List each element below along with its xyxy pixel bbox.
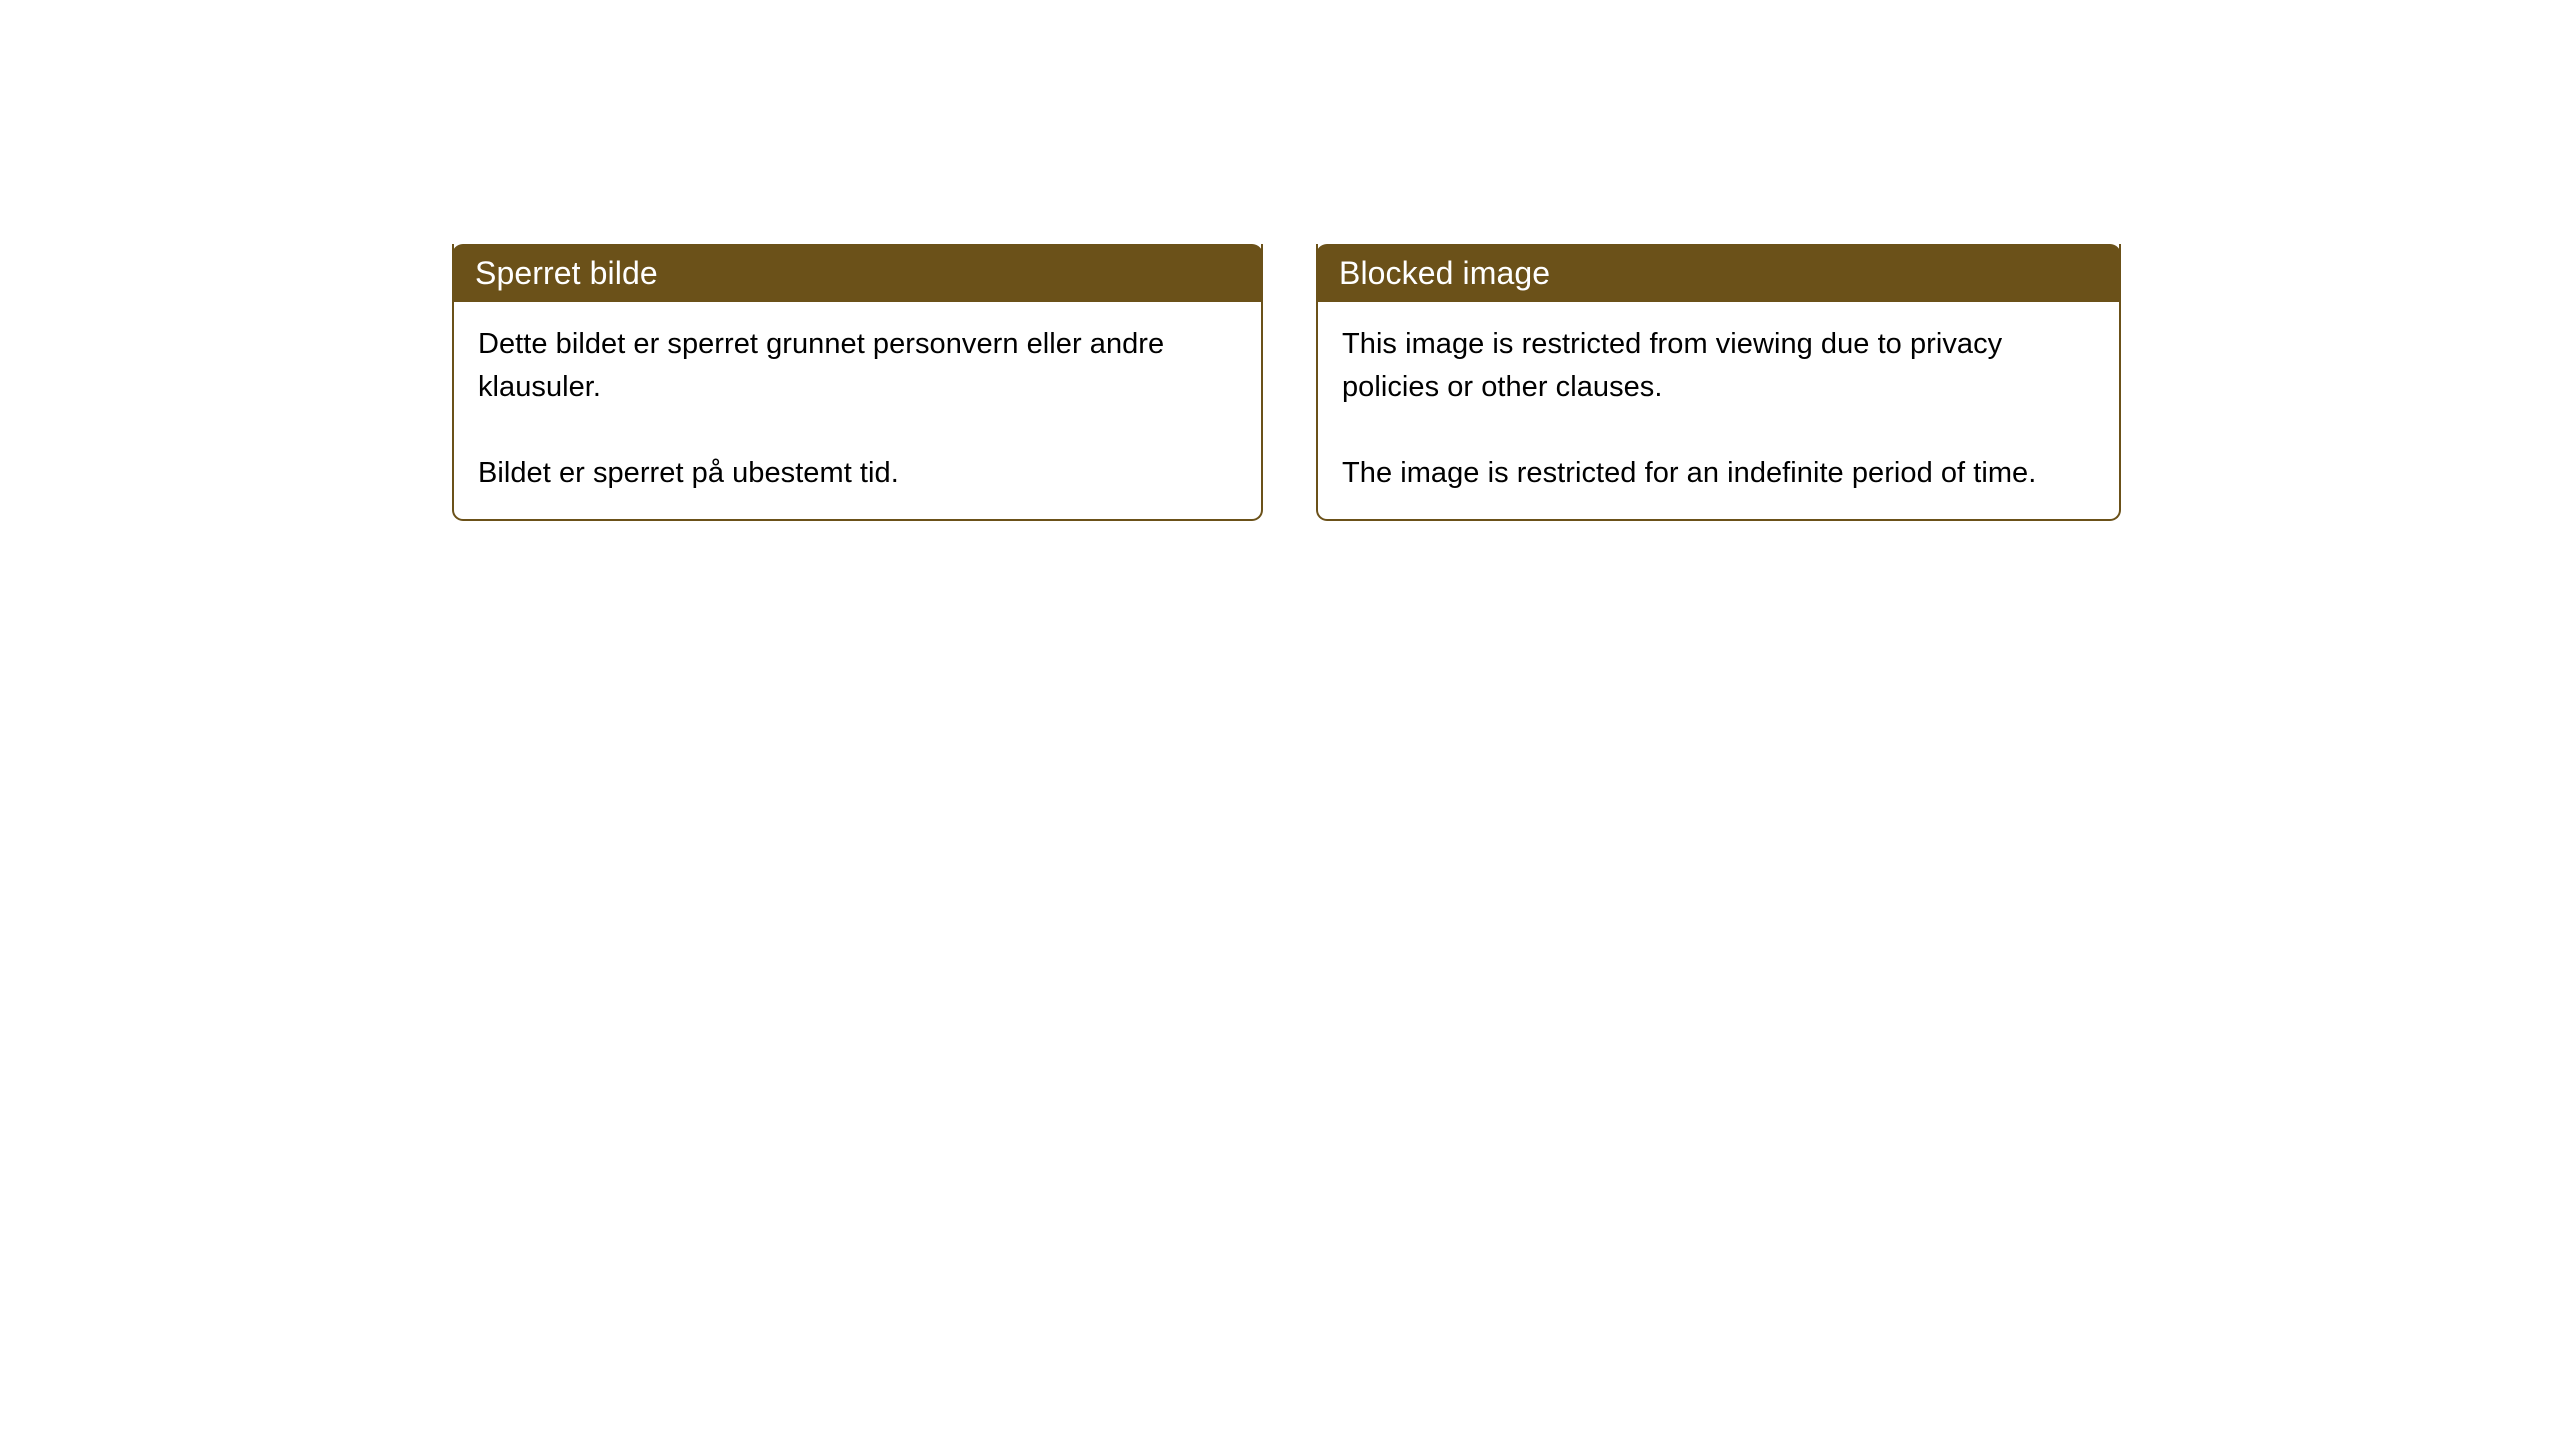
card-title-english: Blocked image (1339, 254, 1550, 292)
notice-card-list: Sperret bilde Dette bildet er sperret gr… (452, 244, 2121, 521)
blocked-image-notice-area: Sperret bilde Dette bildet er sperret gr… (452, 244, 2121, 521)
card-title-norwegian: Sperret bilde (475, 254, 658, 292)
card-header-norwegian: Sperret bilde (452, 244, 1263, 302)
blocked-image-card-norwegian: Sperret bilde Dette bildet er sperret gr… (452, 244, 1263, 521)
card-paragraph-reason-english: This image is restricted from viewing du… (1342, 323, 2097, 409)
card-paragraph-duration-norwegian: Bildet er sperret på ubestemt tid. (478, 452, 1239, 495)
card-header-english: Blocked image (1316, 244, 2121, 302)
card-body-norwegian: Dette bildet er sperret grunnet personve… (454, 302, 1261, 519)
card-paragraph-reason-norwegian: Dette bildet er sperret grunnet personve… (478, 323, 1239, 409)
blocked-image-card-english: Blocked image This image is restricted f… (1316, 244, 2121, 521)
card-paragraph-duration-english: The image is restricted for an indefinit… (1342, 452, 2097, 495)
card-body-english: This image is restricted from viewing du… (1318, 302, 2119, 519)
